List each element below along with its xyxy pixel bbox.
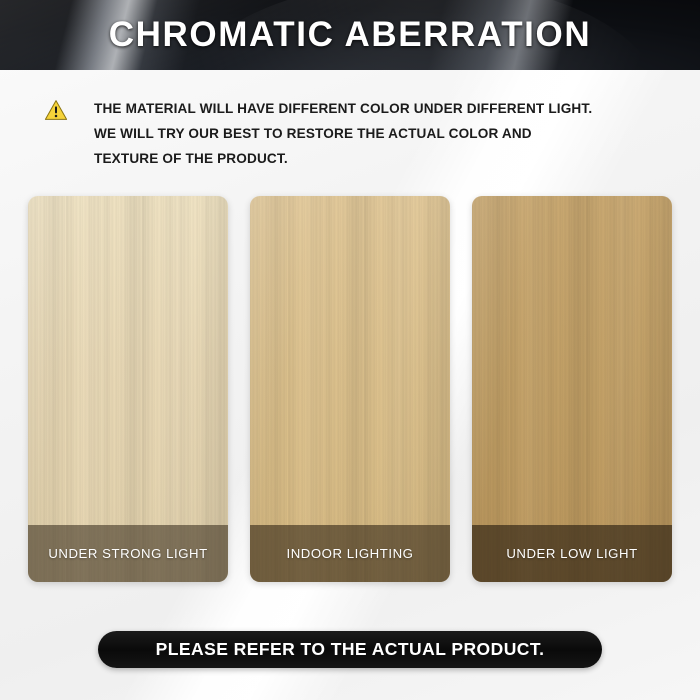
page-title: CHROMATIC ABERRATION: [0, 0, 700, 70]
notice-line-3: TEXTURE OF THE PRODUCT.: [94, 146, 592, 171]
refer-to-actual-product-banner[interactable]: PLEASE REFER TO THE ACTUAL PRODUCT.: [98, 631, 602, 668]
wood-swatch-row: UNDER STRONG LIGHT INDOOR LIGHTING UNDER…: [28, 196, 672, 582]
notice-line-1: THE MATERIAL WILL HAVE DIFFERENT COLOR U…: [94, 96, 592, 121]
header-banner: CHROMATIC ABERRATION: [0, 0, 700, 70]
swatch-under-low-light[interactable]: UNDER LOW LIGHT: [472, 196, 672, 582]
swatch-label-under-low-light: UNDER LOW LIGHT: [472, 525, 672, 582]
chromatic-aberration-notice: THE MATERIAL WILL HAVE DIFFERENT COLOR U…: [44, 96, 664, 171]
swatch-under-strong-light[interactable]: UNDER STRONG LIGHT: [28, 196, 228, 582]
swatch-indoor-lighting[interactable]: INDOOR LIGHTING: [250, 196, 450, 582]
warning-triangle-icon: [44, 98, 68, 122]
notice-line-2: WE WILL TRY OUR BEST TO RESTORE THE ACTU…: [94, 121, 592, 146]
notice-text-block: THE MATERIAL WILL HAVE DIFFERENT COLOR U…: [94, 96, 592, 171]
swatch-label-under-strong-light: UNDER STRONG LIGHT: [28, 525, 228, 582]
swatch-label-indoor-lighting: INDOOR LIGHTING: [250, 525, 450, 582]
